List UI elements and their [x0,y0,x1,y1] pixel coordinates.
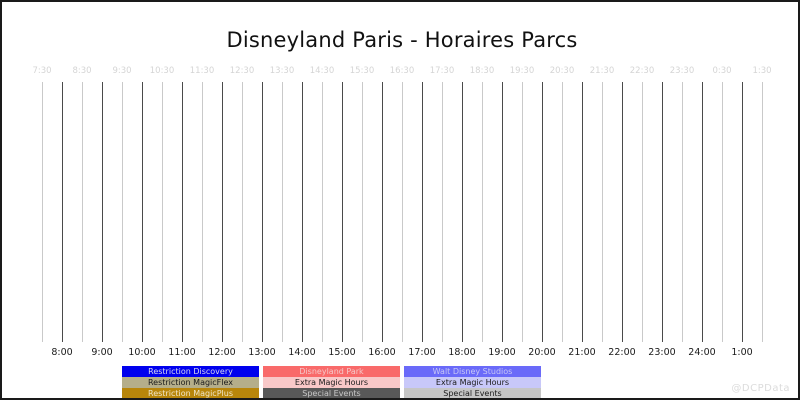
tick-label-bottom: 1:00 [731,347,752,358]
tick-label-top: 18:30 [470,66,495,76]
legend-column-walt-disney-studios: Walt Disney StudiosExtra Magic HoursSpec… [404,366,541,399]
gridline-major [142,82,143,342]
tick-label-bottom: 22:00 [608,347,635,358]
gridline-minor [282,82,283,342]
tick-label-bottom: 10:00 [128,347,155,358]
legend-item[interactable]: Extra Magic Hours [263,377,400,388]
gridline-minor [682,82,683,342]
tick-label-bottom: 23:00 [648,347,675,358]
gridline-major [662,82,663,342]
legend-item[interactable]: Special Events [404,388,541,399]
tick-label-top: 20:30 [550,66,575,76]
legend-item[interactable]: Restriction Discovery [122,366,259,377]
gridline-minor [722,82,723,342]
tick-label-top: 23:30 [670,66,695,76]
gridline-major [702,82,703,342]
gridline-major [622,82,623,342]
tick-label-bottom: 17:00 [408,347,435,358]
tick-label-bottom: 20:00 [528,347,555,358]
tick-label-top: 7:30 [32,66,51,76]
tick-label-top: 13:30 [270,66,295,76]
tick-label-bottom: 11:00 [168,347,195,358]
tick-label-top: 9:30 [112,66,131,76]
tick-label-bottom: 14:00 [288,347,315,358]
tick-label-top: 12:30 [230,66,255,76]
gridline-minor [242,82,243,342]
tick-label-top: 21:30 [590,66,615,76]
gridline-major [62,82,63,342]
chart-container: Disneyland Paris - Horaires Parcs 7:308:… [0,0,800,400]
gridline-minor [322,82,323,342]
tick-label-top: 15:30 [350,66,375,76]
gridline-minor [362,82,363,342]
tick-label-bottom: 13:00 [248,347,275,358]
gridline-major [262,82,263,342]
legend-item[interactable]: Restriction MagicFlex [122,377,259,388]
tick-label-bottom: 12:00 [208,347,235,358]
gridline-major [102,82,103,342]
tick-label-top: 1:30 [752,66,771,76]
watermark: @DCPData [731,383,790,394]
legend-item[interactable]: Walt Disney Studios [404,366,541,377]
gridline-minor [162,82,163,342]
tick-label-top: 19:30 [510,66,535,76]
gridline-major [542,82,543,342]
legend-column-disneyland-park: Disneyland ParkExtra Magic HoursSpecial … [263,366,400,399]
tick-label-bottom: 24:00 [688,347,715,358]
gridline-major [422,82,423,342]
tick-label-top: 0:30 [712,66,731,76]
gridline-minor [402,82,403,342]
gridline-major [382,82,383,342]
gridline-minor [82,82,83,342]
chart-title: Disneyland Paris - Horaires Parcs [2,28,800,52]
gridline-major [302,82,303,342]
gridline-major [502,82,503,342]
tick-label-top: 14:30 [310,66,335,76]
gridline-minor [762,82,763,342]
tick-label-bottom: 15:00 [328,347,355,358]
tick-label-bottom: 21:00 [568,347,595,358]
gridline-minor [562,82,563,342]
gridline-major [222,82,223,342]
legend-item[interactable]: Extra Magic Hours [404,377,541,388]
tick-label-top: 17:30 [430,66,455,76]
legend-item[interactable]: Disneyland Park [263,366,400,377]
gridline-minor [442,82,443,342]
gridline-minor [42,82,43,342]
tick-label-top: 22:30 [630,66,655,76]
gridline-minor [482,82,483,342]
gridline-minor [202,82,203,342]
tick-label-top: 10:30 [150,66,175,76]
tick-label-top: 8:30 [72,66,91,76]
tick-label-bottom: 19:00 [488,347,515,358]
tick-label-bottom: 16:00 [368,347,395,358]
tick-label-bottom: 8:00 [51,347,72,358]
legend-item[interactable]: Restriction MagicPlus [122,388,259,399]
gridline-major [462,82,463,342]
gridline-major [742,82,743,342]
plot-area [42,82,762,342]
tick-label-bottom: 18:00 [448,347,475,358]
gridline-major [342,82,343,342]
tick-label-top: 11:30 [190,66,215,76]
legend-item[interactable]: Special Events [263,388,400,399]
tick-label-bottom: 9:00 [91,347,112,358]
chart-legend: Restriction DiscoveryRestriction MagicFl… [122,366,542,399]
gridline-major [582,82,583,342]
tick-label-top: 16:30 [390,66,415,76]
gridline-minor [642,82,643,342]
gridline-minor [122,82,123,342]
gridline-major [182,82,183,342]
legend-column-restrictions: Restriction DiscoveryRestriction MagicFl… [122,366,259,399]
gridline-minor [522,82,523,342]
gridline-minor [602,82,603,342]
